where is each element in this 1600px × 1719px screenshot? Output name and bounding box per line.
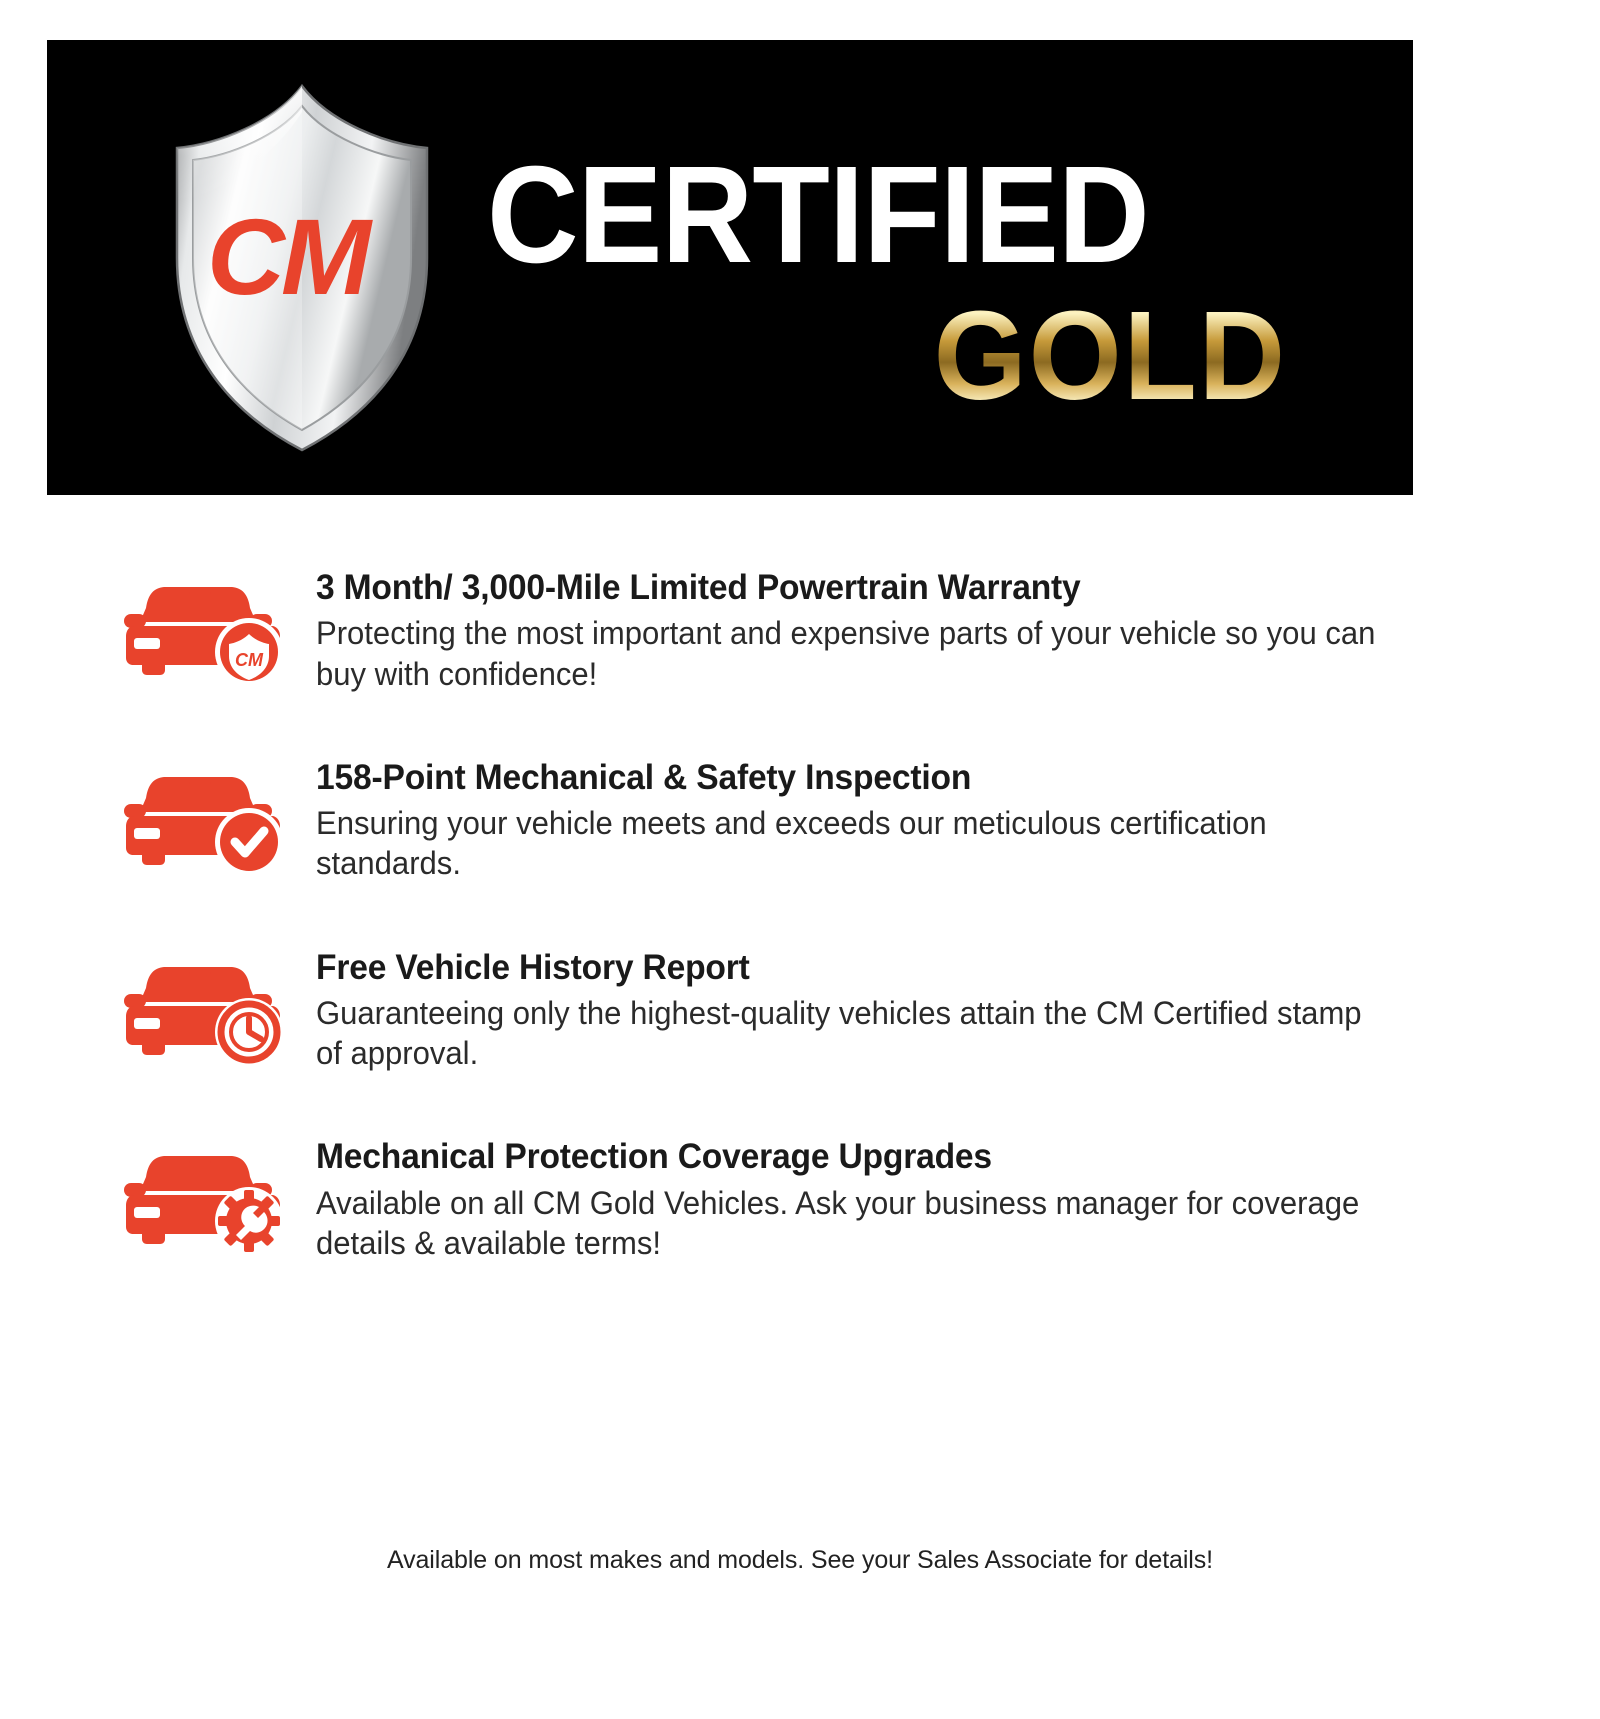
feature-description: Guaranteeing only the highest-quality ve… xyxy=(316,993,1388,1074)
car-gear-wrench-icon xyxy=(108,1137,298,1257)
clock-badge-icon xyxy=(221,1004,277,1060)
car-check-icon xyxy=(108,758,298,878)
svg-text:CM: CM xyxy=(207,196,373,317)
footnote-text: Available on most makes and models. See … xyxy=(0,1546,1600,1575)
cm-monogram: CM xyxy=(207,196,373,317)
feature-title: 158-Point Mechanical & Safety Inspection xyxy=(316,758,1377,797)
feature-description: Protecting the most important and expens… xyxy=(316,613,1388,694)
hero-title-gold: GOLD xyxy=(934,293,1287,419)
car-clock-icon xyxy=(108,948,298,1068)
feature-title: 3 Month/ 3,000-Mile Limited Powertrain W… xyxy=(316,568,1377,607)
feature-list: CM 3 Month/ 3,000-Mile Limited Powertrai… xyxy=(0,560,1600,1319)
hero-banner: CM CERTIFIED GOLD xyxy=(47,40,1413,495)
cm-badge-icon: CM xyxy=(220,623,278,681)
gear-wrench-badge-icon xyxy=(218,1190,280,1252)
svg-text:CM: CM xyxy=(235,650,264,670)
cm-shield-logo: CM xyxy=(167,82,437,454)
feature-title: Free Vehicle History Report xyxy=(316,948,1377,987)
check-badge-icon xyxy=(220,813,278,871)
feature-item-inspection: 158-Point Mechanical & Safety Inspection… xyxy=(0,750,1600,884)
feature-item-coverage-upgrades: Mechanical Protection Coverage Upgrades … xyxy=(0,1129,1600,1263)
feature-item-history-report: Free Vehicle History Report Guaranteeing… xyxy=(0,940,1600,1074)
feature-item-powertrain-warranty: CM 3 Month/ 3,000-Mile Limited Powertrai… xyxy=(0,560,1600,694)
feature-title: Mechanical Protection Coverage Upgrades xyxy=(316,1137,1377,1176)
feature-description: Available on all CM Gold Vehicles. Ask y… xyxy=(316,1183,1388,1264)
hero-title-certified: CERTIFIED xyxy=(487,150,1315,281)
hero-title-group: CERTIFIED GOLD xyxy=(487,150,1387,419)
feature-description: Ensuring your vehicle meets and exceeds … xyxy=(316,803,1388,884)
car-shield-icon: CM xyxy=(108,568,298,688)
